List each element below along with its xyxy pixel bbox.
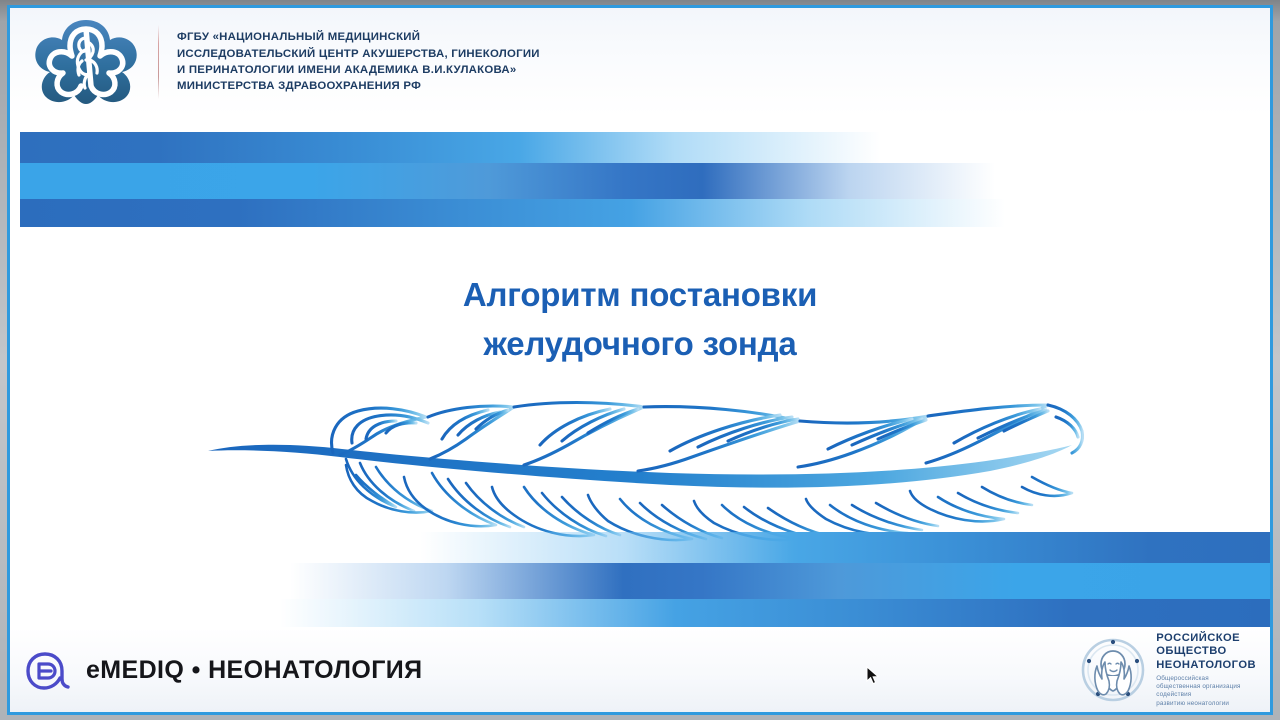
society-title-line-1: РОССИЙСКОЕ xyxy=(1156,632,1256,645)
header-divider xyxy=(158,25,159,99)
slide-canvas: ФГБУ «НАЦИОНАЛЬНЫЙ МЕДИЦИНСКИЙ ИССЛЕДОВА… xyxy=(10,8,1270,712)
header-line-2: ИССЛЕДОВАТЕЛЬСКИЙ ЦЕНТР АКУШЕРСТВА, ГИНЕ… xyxy=(177,46,540,62)
header-line-3: И ПЕРИНАТОЛОГИИ ИМЕНИ АКАДЕМИКА В.И.КУЛА… xyxy=(177,62,540,78)
page-title-line-2: желудочного зонда xyxy=(10,319,1270,368)
slide-frame: ФГБУ «НАЦИОНАЛЬНЫЙ МЕДИЦИНСКИЙ ИССЛЕДОВА… xyxy=(7,5,1273,715)
society-title-line-3: НЕОНАТОЛОГОВ xyxy=(1156,659,1256,672)
header-organization-name: ФГБУ «НАЦИОНАЛЬНЫЙ МЕДИЦИНСКИЙ ИССЛЕДОВА… xyxy=(177,29,540,94)
society-title-line-2: ОБЩЕСТВО xyxy=(1156,645,1256,658)
nmic-agp-emblem-icon xyxy=(20,14,152,110)
society-subtitle: Общероссийская общественная организация … xyxy=(1156,675,1256,708)
society-subtitle-line-4: развитию неонатологии xyxy=(1156,700,1256,708)
feather-illustration xyxy=(200,383,1100,548)
decorative-band-top-3 xyxy=(20,199,1005,227)
baby-in-hands-emblem-icon xyxy=(1076,633,1150,707)
emediq-brand: eMEDIQ • НЕОНАТОЛОГИЯ xyxy=(24,645,423,695)
decorative-band-bottom-2 xyxy=(290,563,1270,599)
header-line-1: ФГБУ «НАЦИОНАЛЬНЫЙ МЕДИЦИНСКИЙ xyxy=(177,29,540,45)
emediq-circle-e-icon xyxy=(24,645,74,695)
society-text-block: РОССИЙСКОЕ ОБЩЕСТВО НЕОНАТОЛОГОВ Общерос… xyxy=(1156,632,1256,707)
decorative-band-top-1 xyxy=(20,132,880,163)
society-subtitle-line-1: Общероссийская xyxy=(1156,675,1256,683)
emediq-wordmark: eMEDIQ • НЕОНАТОЛОГИЯ xyxy=(86,656,423,685)
page-title-line-1: Алгоритм постановки xyxy=(10,270,1270,319)
header-line-4: МИНИСТЕРСТВА ЗДРАВООХРАНЕНИЯ РФ xyxy=(177,78,540,94)
society-subtitle-line-3: содействия xyxy=(1156,691,1256,699)
decorative-band-bottom-3 xyxy=(280,599,1270,627)
society-title: РОССИЙСКОЕ ОБЩЕСТВО НЕОНАТОЛОГОВ xyxy=(1156,632,1256,672)
decorative-band-bottom-1 xyxy=(420,532,1270,563)
page-title: Алгоритм постановки желудочного зонда xyxy=(10,270,1270,368)
slide-header: ФГБУ «НАЦИОНАЛЬНЫЙ МЕДИЦИНСКИЙ ИССЛЕДОВА… xyxy=(10,8,1270,116)
footer-brand-bar: eMEDIQ • НЕОНАТОЛОГИЯ xyxy=(10,628,1270,712)
society-brand: РОССИЙСКОЕ ОБЩЕСТВО НЕОНАТОЛОГОВ Общерос… xyxy=(1076,632,1256,707)
slide-root: ФГБУ «НАЦИОНАЛЬНЫЙ МЕДИЦИНСКИЙ ИССЛЕДОВА… xyxy=(0,0,1280,720)
decorative-band-top-2 xyxy=(20,163,995,199)
